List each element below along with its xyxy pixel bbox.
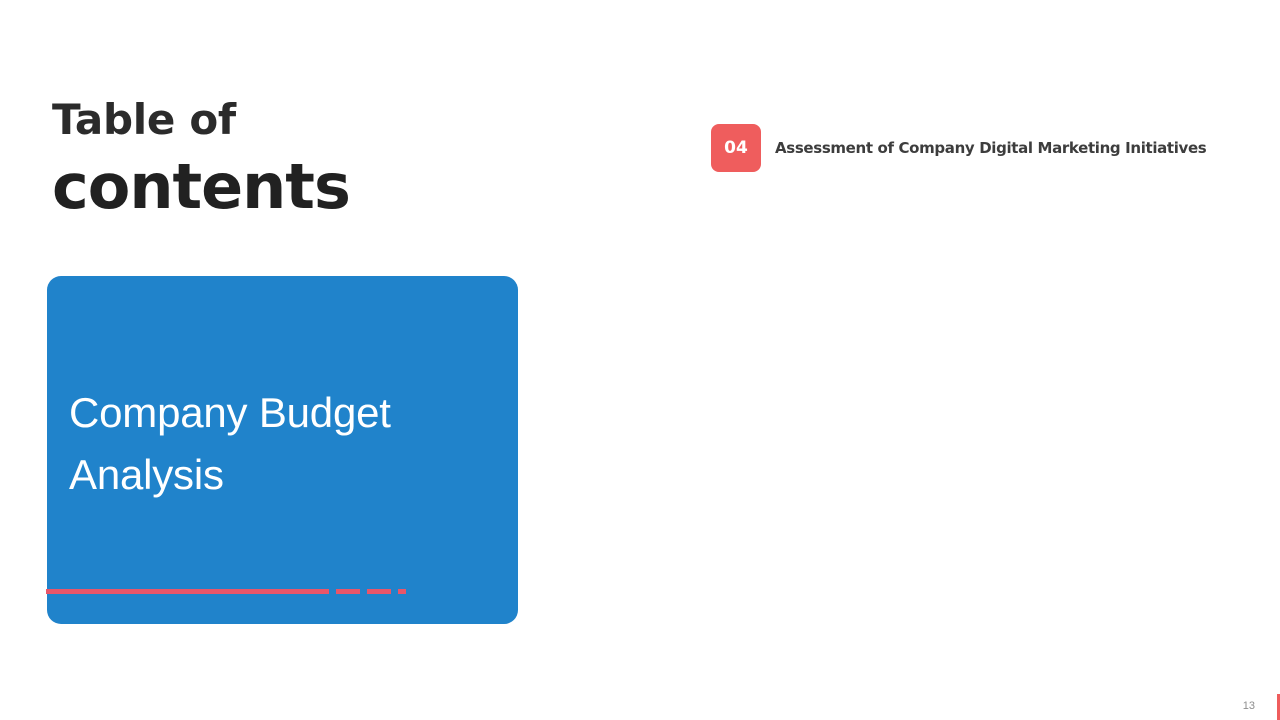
- card-underline-decoration: [46, 589, 406, 594]
- page-title-line-1: Table of: [52, 96, 652, 143]
- table-of-contents-list: 04 Assessment of Company Digital Marketi…: [711, 124, 1231, 172]
- section-card[interactable]: Company Budget Analysis: [47, 276, 518, 624]
- page-title: Table of contents: [52, 96, 652, 221]
- page-number: 13: [1243, 700, 1255, 712]
- toc-item-number-badge: 04: [711, 124, 761, 172]
- slide-canvas: Table of contents Company Budget Analysi…: [0, 0, 1280, 720]
- toc-item-label: Assessment of Company Digital Marketing …: [775, 139, 1206, 157]
- section-card-title: Company Budget Analysis: [69, 382, 498, 506]
- list-item[interactable]: 04 Assessment of Company Digital Marketi…: [711, 124, 1231, 172]
- page-title-line-2: contents: [52, 153, 652, 221]
